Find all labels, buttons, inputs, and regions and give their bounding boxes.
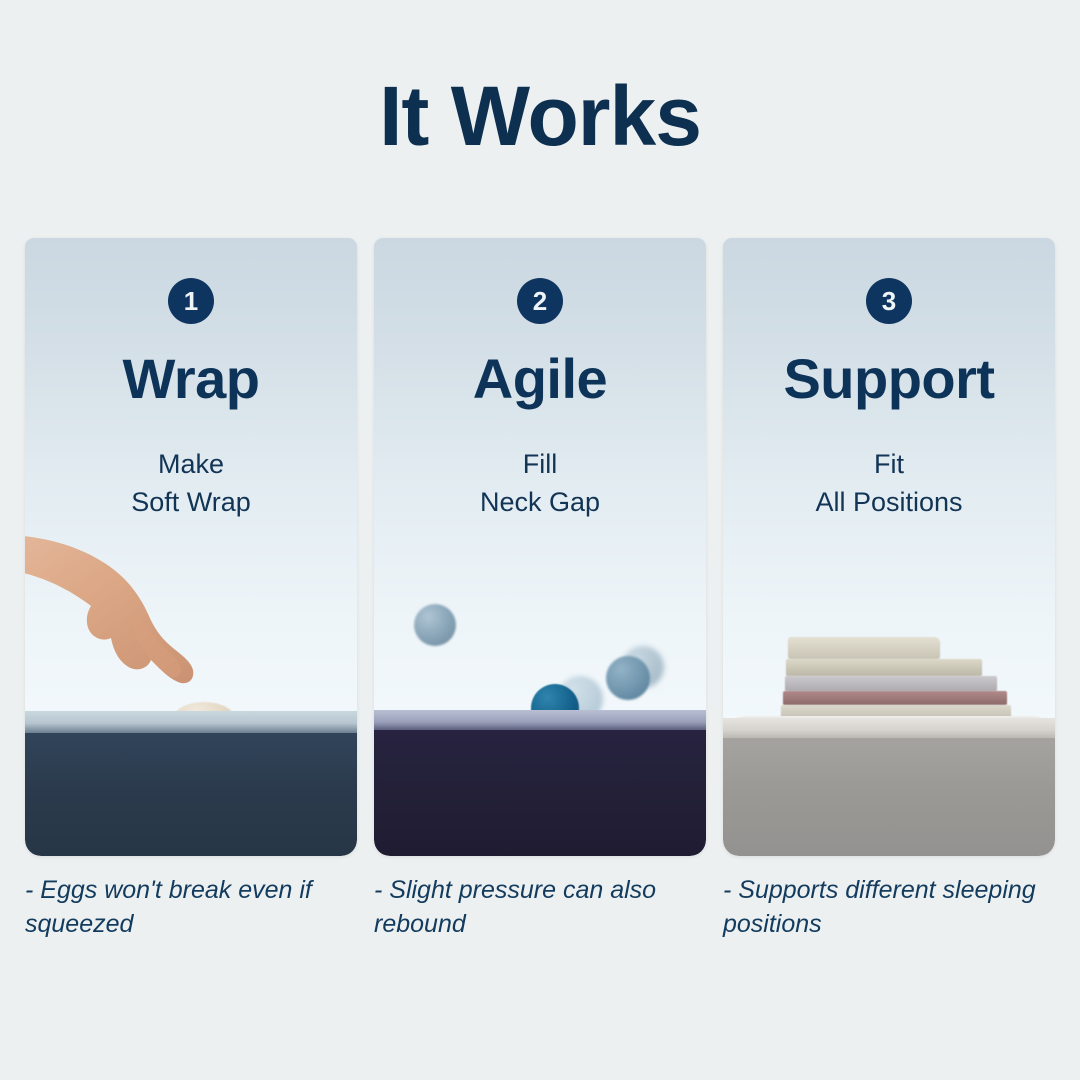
hand-icon — [25, 530, 247, 730]
card-2-subtitle-line1: Fill — [374, 445, 706, 483]
card-3-photo — [723, 526, 1055, 856]
feature-card-2[interactable]: 2 Agile Fill Neck Gap — [374, 238, 706, 856]
card-1-mattress-topsheet — [25, 711, 357, 733]
book-2 — [783, 691, 1007, 705]
card-2-photo — [374, 526, 706, 856]
feature-cards-row: 1 Wrap Make Soft Wrap — [25, 238, 1055, 856]
bouncing-ball-1 — [414, 604, 456, 646]
card-2-title: Agile — [374, 350, 706, 409]
card-1-mattress-slab — [25, 733, 357, 856]
book-5 — [788, 637, 940, 659]
card-3-mattress-topsheet — [723, 718, 1055, 738]
card-3-caption: - Supports different sleeping positions — [723, 874, 1055, 941]
feature-card-1[interactable]: 1 Wrap Make Soft Wrap — [25, 238, 357, 856]
card-1-caption: - Eggs won't break even if squeezed — [25, 874, 357, 941]
card-1-photo — [25, 526, 357, 856]
step-badge-3: 3 — [866, 278, 912, 324]
card-1-subtitle-line1: Make — [25, 445, 357, 483]
card-3-subtitle-line2: All Positions — [723, 483, 1055, 521]
captions-row: - Eggs won't break even if squeezed - Sl… — [25, 874, 1055, 941]
card-3-title: Support — [723, 350, 1055, 409]
step-badge-2: 2 — [517, 278, 563, 324]
book-stack-icon — [781, 620, 1011, 720]
card-3-header: 3 Support Fit All Positions — [723, 238, 1055, 521]
book-3 — [785, 676, 997, 691]
card-3-mattress-slab — [723, 738, 1055, 856]
card-3-subtitle-line1: Fit — [723, 445, 1055, 483]
card-2-header: 2 Agile Fill Neck Gap — [374, 238, 706, 521]
card-1-title: Wrap — [25, 350, 357, 409]
card-2-mattress-slab — [374, 730, 706, 856]
book-4 — [786, 659, 982, 676]
step-badge-1: 1 — [168, 278, 214, 324]
card-2-subtitle-line2: Neck Gap — [374, 483, 706, 521]
page-title: It Works — [0, 72, 1080, 160]
card-1-header: 1 Wrap Make Soft Wrap — [25, 238, 357, 521]
card-2-caption: - Slight pressure can also rebound — [374, 874, 706, 941]
card-1-subtitle-line2: Soft Wrap — [25, 483, 357, 521]
card-2-mattress-topsheet — [374, 710, 706, 730]
promo-page: It Works 1 Wrap Make Soft Wrap — [0, 0, 1080, 1080]
bouncing-ball-2 — [606, 656, 650, 700]
feature-card-3[interactable]: 3 Support Fit All Positions — [723, 238, 1055, 856]
